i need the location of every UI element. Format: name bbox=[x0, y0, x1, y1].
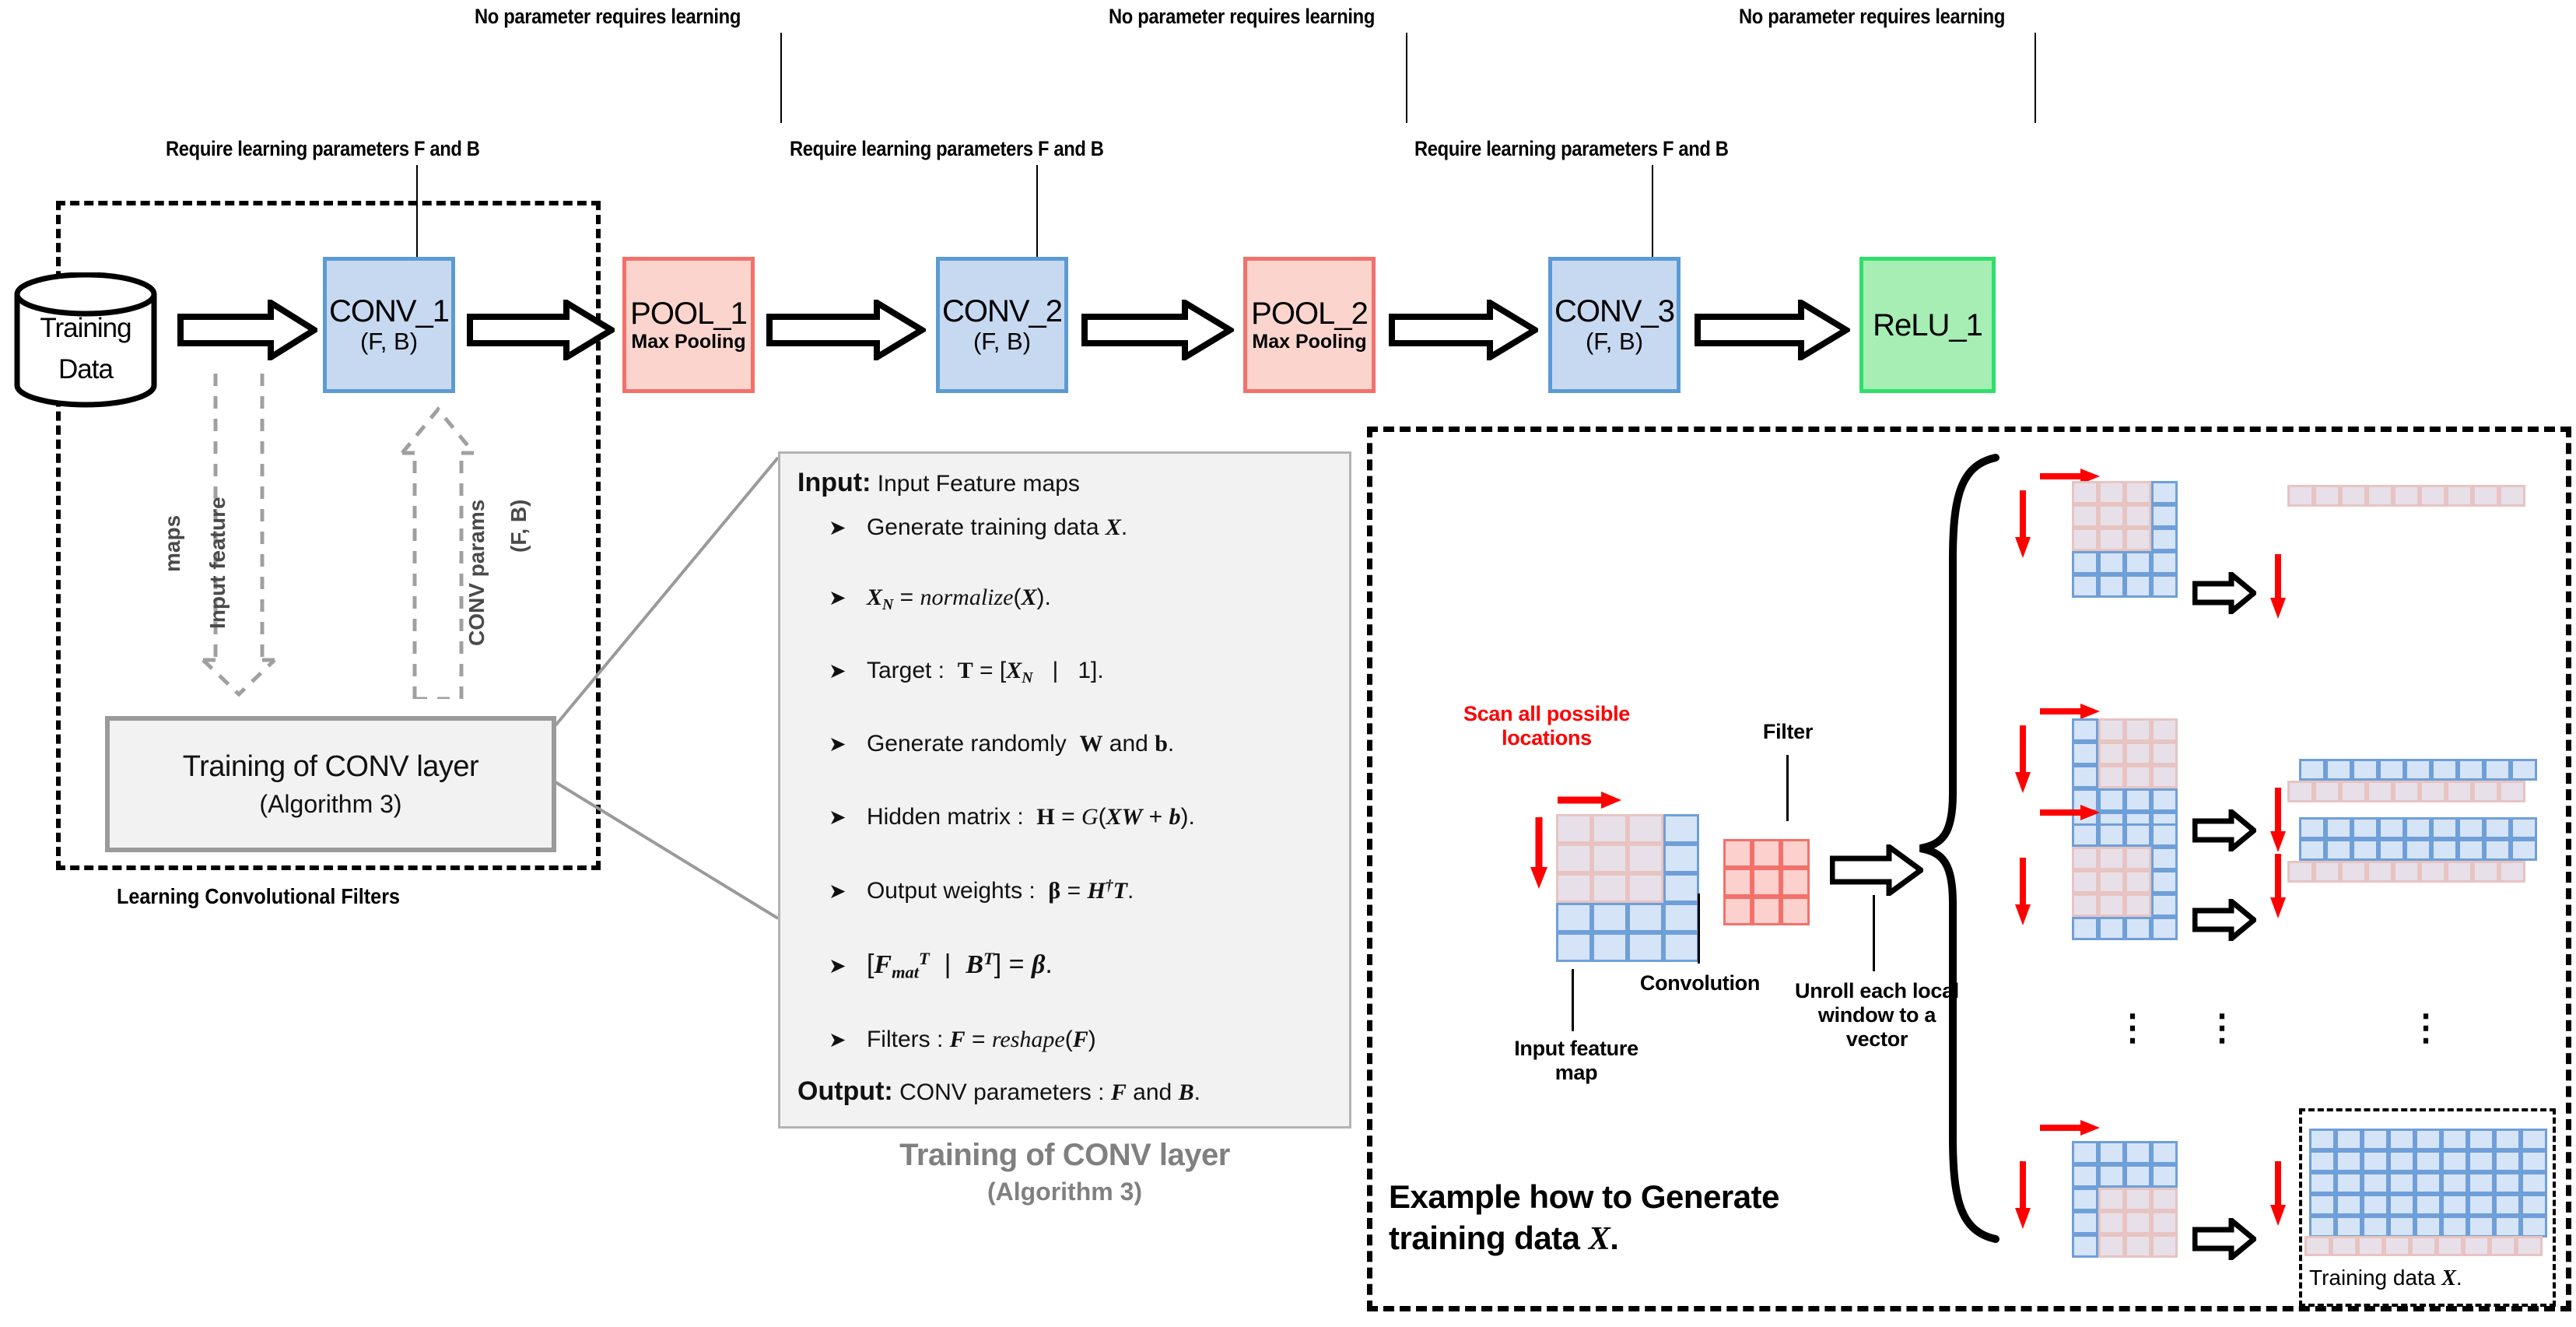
row2-arrow bbox=[2192, 809, 2256, 855]
training-data-cylinder: Training Data bbox=[8, 272, 163, 405]
vector-cell bbox=[2304, 1236, 2331, 1256]
unroll-leader bbox=[1873, 895, 1875, 971]
grid-cell bbox=[2098, 528, 2125, 551]
grid-cell bbox=[2125, 917, 2151, 940]
row3-result-down-arrow-icon bbox=[2268, 852, 2288, 923]
vector-cell bbox=[2446, 861, 2473, 883]
training-box-subtitle: (Algorithm 3) bbox=[259, 790, 401, 819]
label-input-feature: Input feature bbox=[205, 497, 230, 629]
bullet-arrow-icon: ➤ bbox=[829, 954, 846, 978]
grid-cell bbox=[1628, 932, 1663, 962]
conv-to-unroll-arrow bbox=[1830, 844, 1923, 900]
vector-cell bbox=[2299, 817, 2325, 839]
algorithm-caption-sub: (Algorithm 3) bbox=[778, 1178, 1351, 1206]
vector-cell bbox=[2431, 759, 2458, 781]
vector-cell bbox=[2309, 1172, 2336, 1194]
vector-cell bbox=[2362, 1129, 2388, 1150]
row1-down-arrow-icon bbox=[2012, 489, 2034, 563]
flow-arrow-4 bbox=[1081, 300, 1234, 364]
grid-cell bbox=[2151, 718, 2178, 742]
grid-cell bbox=[2151, 551, 2178, 574]
grid-cell bbox=[2098, 765, 2125, 788]
grid-cell bbox=[2098, 742, 2125, 765]
vector-cell bbox=[2441, 1216, 2468, 1237]
row3-arrow bbox=[2192, 899, 2256, 945]
grid-cell bbox=[1628, 903, 1663, 932]
pipeline-block-pool2[interactable]: POOL_2 Max Pooling bbox=[1243, 257, 1376, 393]
vector-cell bbox=[2352, 839, 2378, 861]
vector-cell bbox=[2340, 781, 2367, 802]
grid-cell bbox=[2098, 574, 2125, 598]
row4-result-down-arrow-icon bbox=[2268, 1160, 2288, 1230]
grid-cell bbox=[2151, 765, 2178, 788]
vector-cell bbox=[2299, 839, 2325, 861]
vector-cell bbox=[2499, 861, 2525, 883]
grid-cell bbox=[2151, 870, 2178, 893]
vector-cell bbox=[2420, 861, 2446, 883]
vector-cell bbox=[2441, 1194, 2468, 1216]
alg-input-value: Input Feature maps bbox=[878, 471, 1080, 497]
curly-brace-icon bbox=[1915, 451, 2001, 1249]
grid-cell bbox=[2098, 1188, 2125, 1211]
grid-cell bbox=[2098, 504, 2125, 528]
vector-cell bbox=[2378, 759, 2405, 781]
filter-cell bbox=[1723, 868, 1752, 897]
vector-cell bbox=[2352, 817, 2378, 839]
alg-step-5: ➤ Hidden matrix : H = G(XW + b). bbox=[829, 804, 1195, 830]
vector-cell bbox=[2499, 485, 2525, 507]
pipeline-block-conv1[interactable]: CONV_1 (F, B) bbox=[323, 257, 455, 393]
vector-cell bbox=[2415, 1129, 2441, 1150]
grid-cell bbox=[2098, 1211, 2125, 1234]
filter-grid bbox=[1723, 839, 1810, 925]
grid-cell bbox=[2072, 870, 2098, 893]
vector-cell bbox=[2415, 1194, 2441, 1216]
flow-arrow-3 bbox=[766, 300, 926, 364]
grid-cell bbox=[2151, 1141, 2178, 1164]
bullet-arrow-icon: ➤ bbox=[829, 659, 846, 683]
row3-vector bbox=[2299, 817, 2537, 861]
leader-line-1 bbox=[780, 33, 782, 123]
vector-cell bbox=[2405, 759, 2431, 781]
grid-cell bbox=[2098, 481, 2125, 504]
grid-cell bbox=[2098, 1164, 2125, 1188]
grid-cell bbox=[2125, 742, 2151, 765]
vector-cell bbox=[2314, 861, 2340, 883]
annotation-require-learning-3: Require learning parameters F and B bbox=[1414, 137, 1729, 161]
vector-cell bbox=[2405, 839, 2431, 861]
vector-cell bbox=[2473, 781, 2499, 802]
vector-cell bbox=[2309, 1129, 2336, 1150]
annotation-no-param-2: No parameter requires learning bbox=[1109, 5, 1375, 29]
vector-cell bbox=[2420, 781, 2446, 802]
vector-cell bbox=[2473, 485, 2499, 507]
ifm-label-line2: map bbox=[1555, 1061, 1598, 1084]
grid-cell bbox=[1592, 873, 1628, 903]
alg-step-8: ➤ Filters : F = reshape(F) bbox=[829, 1027, 1096, 1053]
grid-cell bbox=[2098, 788, 2125, 812]
grid-cell bbox=[2098, 1234, 2125, 1258]
vector-cell bbox=[2378, 839, 2405, 861]
vector-cell bbox=[2484, 759, 2511, 781]
grid-cell bbox=[2072, 551, 2098, 574]
row2-down-arrow-icon bbox=[2012, 724, 2034, 798]
algorithm-caption: Training of CONV layer (Algorithm 3) bbox=[778, 1138, 1351, 1206]
bullet-arrow-icon: ➤ bbox=[829, 732, 846, 757]
row1-result-down-arrow-icon bbox=[2268, 553, 2288, 623]
row1-vector bbox=[2287, 485, 2525, 507]
vector-cell bbox=[2499, 781, 2525, 802]
grid-cell bbox=[2125, 765, 2151, 788]
vector-cell bbox=[2325, 839, 2352, 861]
filter-cell bbox=[1723, 839, 1752, 868]
vector-cell bbox=[2388, 1150, 2415, 1172]
vertical-dots-2: ⋮ bbox=[2204, 1020, 2240, 1036]
grid-cell bbox=[2072, 917, 2098, 940]
vertical-dots-1: ⋮ bbox=[2115, 1020, 2150, 1036]
grid-cell bbox=[2072, 1141, 2098, 1164]
block-title: CONV_2 bbox=[942, 295, 1062, 328]
grid-cell bbox=[2072, 1164, 2098, 1188]
vector-cell bbox=[2521, 1172, 2547, 1194]
alg-output-line: Output: CONV parameters : F and B. bbox=[797, 1076, 1200, 1107]
vector-cell bbox=[2367, 861, 2393, 883]
vector-cell bbox=[2388, 1129, 2415, 1150]
vector-cell bbox=[2378, 817, 2405, 839]
vector-cell bbox=[2441, 1172, 2468, 1194]
grid-cell bbox=[2072, 718, 2098, 742]
vector-cell bbox=[2336, 1172, 2362, 1194]
vector-cell bbox=[2437, 1236, 2463, 1256]
row4-down-arrow-icon bbox=[2012, 1160, 2034, 1234]
grid-cell bbox=[1592, 932, 1628, 962]
grid-cell bbox=[2151, 574, 2178, 598]
block-title: ReLU_1 bbox=[1873, 309, 1982, 342]
grid-cell bbox=[2151, 742, 2178, 765]
filter-cell bbox=[1781, 868, 1810, 897]
grid-cell bbox=[2098, 551, 2125, 574]
alg-step-3: ➤ Target : T = [XN | 1]. bbox=[829, 658, 1104, 687]
block-title: CONV_1 bbox=[329, 295, 449, 328]
grid-cell bbox=[1663, 903, 1699, 932]
vector-cell bbox=[2415, 1150, 2441, 1172]
grid-cell bbox=[2125, 1141, 2151, 1164]
vector-cell bbox=[2458, 839, 2484, 861]
training-box-title: Training of CONV layer bbox=[183, 750, 478, 784]
vector-cell bbox=[2393, 781, 2420, 802]
grid-cell bbox=[2125, 893, 2151, 917]
training-data-x-grid bbox=[2309, 1129, 2547, 1237]
vector-cell bbox=[2309, 1216, 2336, 1237]
flow-arrow-1 bbox=[177, 300, 317, 364]
label-conv-params: CONV params bbox=[464, 500, 489, 646]
grid-cell bbox=[1628, 873, 1663, 903]
block-subtitle: (F, B) bbox=[360, 329, 418, 355]
learning-group-label: Learning Convolutional Filters bbox=[117, 884, 400, 909]
vector-cell bbox=[2521, 1150, 2547, 1172]
pipeline-block-conv3[interactable]: CONV_3 (F, B) bbox=[1548, 257, 1681, 393]
vector-cell bbox=[2494, 1150, 2521, 1172]
grid-cell bbox=[2098, 718, 2125, 742]
vector-cell bbox=[2287, 781, 2314, 802]
vector-cell bbox=[2446, 781, 2473, 802]
grid-cell bbox=[2072, 893, 2098, 917]
vector-cell bbox=[2431, 839, 2458, 861]
vector-cell bbox=[2446, 485, 2473, 507]
callout-connector-lines bbox=[545, 436, 786, 938]
vector-cell bbox=[2431, 817, 2458, 839]
scan-label-line1: Scan all possible bbox=[1463, 702, 1630, 725]
grid-cell bbox=[1663, 844, 1699, 873]
row1-window-grid bbox=[2072, 481, 2178, 598]
grid-cell bbox=[2125, 574, 2151, 598]
block-subtitle: (F, B) bbox=[973, 329, 1031, 355]
grid-cell bbox=[1592, 844, 1628, 873]
pipeline-block-relu1[interactable]: ReLU_1 bbox=[1859, 257, 1996, 393]
grid-cell bbox=[1556, 814, 1592, 844]
alg-input-label: Input: bbox=[797, 468, 871, 497]
row3-vector-highlight bbox=[2287, 861, 2525, 883]
vector-cell bbox=[2484, 817, 2511, 839]
vector-cell bbox=[2352, 759, 2378, 781]
flow-arrow-2 bbox=[467, 300, 615, 364]
input-feature-map-label: Input feature map bbox=[1483, 1037, 1670, 1085]
grid-cell bbox=[2072, 765, 2098, 788]
grid-cell bbox=[2072, 528, 2098, 551]
filter-cell bbox=[1781, 839, 1810, 868]
grid-cell bbox=[2125, 870, 2151, 893]
vector-cell bbox=[2405, 817, 2431, 839]
vector-cell bbox=[2468, 1216, 2494, 1237]
vector-cell bbox=[2340, 485, 2367, 507]
annotation-require-learning-2: Require learning parameters F and B bbox=[790, 137, 1104, 161]
alg-step-7: ➤ [FmatT | BT] = β. bbox=[829, 949, 1053, 983]
grid-cell bbox=[2125, 504, 2151, 528]
vector-cell bbox=[2336, 1129, 2362, 1150]
vector-cell bbox=[2463, 1236, 2490, 1256]
grid-cell bbox=[2151, 917, 2178, 940]
grid-cell bbox=[1556, 844, 1592, 873]
grid-cell bbox=[2151, 847, 2178, 870]
grid-cell bbox=[2151, 1211, 2178, 1234]
vector-cell bbox=[2468, 1172, 2494, 1194]
vector-cell bbox=[2521, 1129, 2547, 1150]
grid-cell bbox=[2072, 481, 2098, 504]
vector-cell bbox=[2473, 861, 2499, 883]
grid-cell bbox=[2125, 847, 2151, 870]
alg-step-2: ➤ XN = normalize(X). bbox=[829, 585, 1051, 614]
vector-cell bbox=[2415, 1216, 2441, 1237]
filter-cell bbox=[1723, 897, 1752, 925]
training-data-x-label: Training data X. bbox=[2309, 1266, 2462, 1291]
scan-down-arrow-icon bbox=[1527, 816, 1551, 893]
grid-cell bbox=[1663, 932, 1699, 962]
vector-cell bbox=[2287, 485, 2314, 507]
vector-cell bbox=[2511, 759, 2537, 781]
filter-leader bbox=[1786, 755, 1789, 821]
training-data-label-line1: Training bbox=[8, 313, 163, 344]
grid-cell bbox=[2072, 1234, 2098, 1258]
vector-cell bbox=[2362, 1194, 2388, 1216]
vector-cell bbox=[2336, 1150, 2362, 1172]
leader-line-2 bbox=[1406, 33, 1407, 123]
scan-all-locations-label: Scan all possible locations bbox=[1442, 702, 1652, 750]
vector-cell bbox=[2314, 485, 2340, 507]
flow-arrow-6 bbox=[1695, 300, 1850, 364]
vector-cell bbox=[2367, 485, 2393, 507]
vector-cell bbox=[2336, 1194, 2362, 1216]
row2-vector bbox=[2299, 759, 2537, 781]
grid-cell bbox=[2098, 823, 2125, 847]
bullet-arrow-icon: ➤ bbox=[829, 879, 846, 904]
bullet-arrow-icon: ➤ bbox=[829, 586, 846, 610]
grid-cell bbox=[2125, 1164, 2151, 1188]
vector-cell bbox=[2299, 759, 2325, 781]
grid-cell bbox=[2151, 1188, 2178, 1211]
pipeline-block-pool1[interactable]: POOL_1 Max Pooling bbox=[622, 257, 755, 393]
grid-cell bbox=[1663, 814, 1699, 844]
grid-cell bbox=[2072, 823, 2098, 847]
annotation-require-learning-1: Require learning parameters F and B bbox=[166, 137, 480, 161]
training-data-x-last-row bbox=[2304, 1236, 2543, 1256]
vector-cell bbox=[2458, 817, 2484, 839]
grid-cell bbox=[2125, 1188, 2151, 1211]
grid-cell bbox=[2072, 1211, 2098, 1234]
scan-label-line2: locations bbox=[1502, 726, 1592, 750]
vector-cell bbox=[2516, 1236, 2543, 1256]
grid-cell bbox=[2125, 528, 2151, 551]
vector-cell bbox=[2458, 759, 2484, 781]
vector-cell bbox=[2287, 861, 2314, 883]
grid-cell bbox=[2125, 718, 2151, 742]
alg-step-6: ➤ Output weights : β = H†T. bbox=[829, 877, 1134, 904]
training-conv-layer-box[interactable]: Training of CONV layer (Algorithm 3) bbox=[105, 716, 556, 852]
vector-cell bbox=[2331, 1236, 2357, 1256]
vector-cell bbox=[2340, 861, 2367, 883]
grid-cell bbox=[2151, 823, 2178, 847]
label-conv-params-fb: (F, B) bbox=[506, 500, 531, 553]
filter-cell bbox=[1752, 868, 1781, 897]
vector-cell bbox=[2468, 1150, 2494, 1172]
row1-arrow bbox=[2192, 572, 2256, 618]
grid-cell bbox=[2098, 847, 2125, 870]
algorithm-caption-title: Training of CONV layer bbox=[778, 1138, 1351, 1173]
grid-cell bbox=[2151, 528, 2178, 551]
vector-cell bbox=[2415, 1172, 2441, 1194]
vector-cell bbox=[2494, 1194, 2521, 1216]
vector-cell bbox=[2494, 1216, 2521, 1237]
grid-cell bbox=[2072, 574, 2098, 598]
alg-output-label: Output: bbox=[797, 1076, 893, 1106]
block-title: CONV_3 bbox=[1554, 295, 1674, 328]
scan-right-arrow-icon bbox=[1556, 788, 1622, 816]
grid-cell bbox=[2151, 788, 2178, 812]
vector-cell bbox=[2362, 1172, 2388, 1194]
vector-cell bbox=[2314, 781, 2340, 802]
grid-cell bbox=[2072, 742, 2098, 765]
grid-cell bbox=[2151, 504, 2178, 528]
vector-cell bbox=[2441, 1129, 2468, 1150]
bullet-arrow-icon: ➤ bbox=[829, 516, 846, 540]
input-feature-map-grid bbox=[1556, 814, 1699, 962]
pipeline-block-conv2[interactable]: CONV_2 (F, B) bbox=[936, 257, 1068, 393]
vector-cell bbox=[2384, 1236, 2410, 1256]
row4-arrow bbox=[2192, 1218, 2256, 1264]
vector-cell bbox=[2511, 817, 2537, 839]
bullet-arrow-icon: ➤ bbox=[829, 806, 846, 830]
block-subtitle: (F, B) bbox=[1586, 329, 1643, 355]
filter-label: Filter bbox=[1733, 720, 1842, 744]
vector-cell bbox=[2367, 781, 2393, 802]
grid-cell bbox=[1592, 903, 1628, 932]
alg-input-line: Input: Input Feature maps bbox=[797, 468, 1080, 498]
ifm-label-line1: Input feature bbox=[1514, 1037, 1638, 1060]
grid-cell bbox=[2151, 893, 2178, 917]
grid-cell bbox=[2151, 1164, 2178, 1188]
grid-cell bbox=[2151, 1234, 2178, 1258]
alg-step-1: ➤ Generate training data X. bbox=[829, 514, 1127, 541]
grid-cell bbox=[2125, 1211, 2151, 1234]
grid-cell bbox=[2125, 551, 2151, 574]
vector-cell bbox=[2521, 1216, 2547, 1237]
vector-cell bbox=[2362, 1150, 2388, 1172]
vector-cell bbox=[2521, 1194, 2547, 1216]
bullet-arrow-icon: ➤ bbox=[829, 1028, 846, 1052]
vector-cell bbox=[2494, 1172, 2521, 1194]
filter-cell bbox=[1781, 897, 1810, 925]
grid-cell bbox=[2098, 893, 2125, 917]
vector-cell bbox=[2484, 839, 2511, 861]
training-data-label-line2: Data bbox=[8, 354, 163, 385]
grid-cell bbox=[2098, 870, 2125, 893]
vector-cell bbox=[2468, 1129, 2494, 1150]
input-feature-map-leader bbox=[1572, 969, 1574, 1031]
grid-cell bbox=[1628, 844, 1663, 873]
grid-cell bbox=[2125, 823, 2151, 847]
leader-line-5 bbox=[1036, 165, 1038, 257]
grid-cell bbox=[2125, 1234, 2151, 1258]
grid-cell bbox=[2072, 504, 2098, 528]
vector-cell bbox=[2490, 1236, 2516, 1256]
vector-cell bbox=[2441, 1150, 2468, 1172]
grid-cell bbox=[2125, 788, 2151, 812]
vector-cell bbox=[2362, 1216, 2388, 1237]
leader-line-6 bbox=[1652, 165, 1653, 257]
grid-cell bbox=[1556, 903, 1592, 932]
row4-window-grid bbox=[2072, 1141, 2178, 1258]
annotation-no-param-3: No parameter requires learning bbox=[1739, 5, 2005, 29]
grid-cell bbox=[1663, 873, 1699, 903]
vector-cell bbox=[2336, 1216, 2362, 1237]
row3-down-arrow-icon bbox=[2012, 856, 2034, 930]
example-title-line2: training data X. bbox=[1389, 1220, 1618, 1256]
flow-arrow-5 bbox=[1389, 300, 1538, 364]
vector-cell bbox=[2325, 759, 2352, 781]
unroll-line3: vector bbox=[1846, 1027, 1908, 1051]
vector-cell bbox=[2511, 839, 2537, 861]
grid-cell bbox=[2125, 481, 2151, 504]
block-subtitle: Max Pooling bbox=[631, 332, 745, 352]
vertical-dots-3: ⋮ bbox=[2408, 1020, 2444, 1036]
grid-cell bbox=[2098, 1141, 2125, 1164]
row3-window-grid bbox=[2072, 823, 2178, 940]
grid-cell bbox=[2098, 917, 2125, 940]
grid-cell bbox=[1556, 873, 1592, 903]
diagram-canvas: No parameter requires learning No parame… bbox=[0, 0, 2576, 1327]
row2-vector-highlight bbox=[2287, 781, 2525, 802]
vector-cell bbox=[2393, 485, 2420, 507]
block-title: POOL_1 bbox=[630, 297, 747, 330]
